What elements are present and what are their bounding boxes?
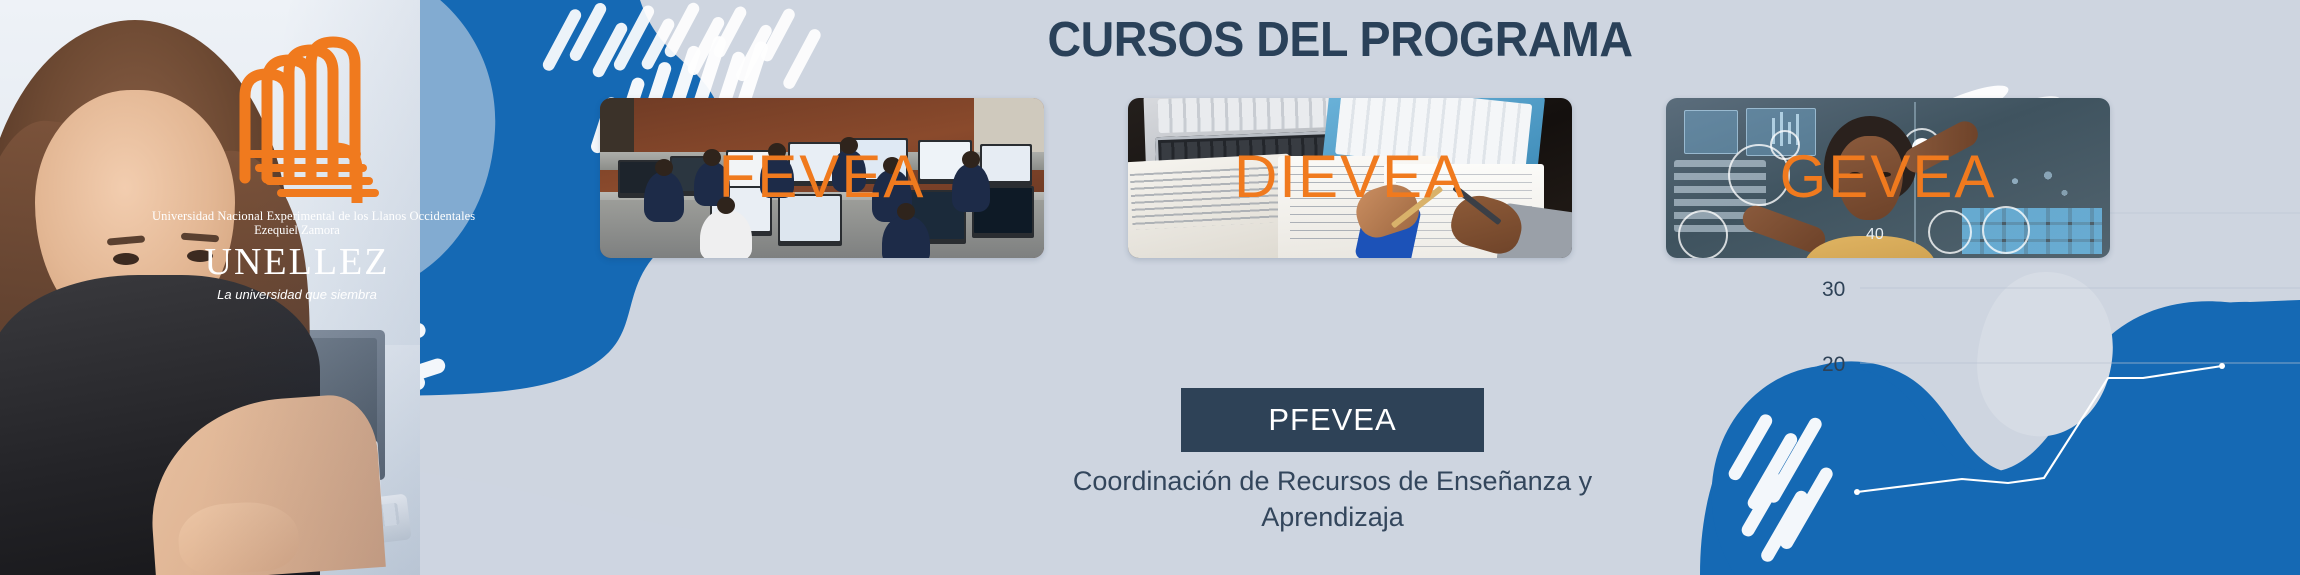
- page-title: CURSOS DEL PROGRAMA: [1008, 12, 1673, 68]
- course-label-dievea: DIEVEA: [1128, 147, 1572, 207]
- unellez-logo-block: Universidad Nacional Experimental de los…: [152, 20, 442, 340]
- logo-slogan: La universidad que siembra: [152, 286, 442, 304]
- logo-line-2: Ezequiel Zamora: [152, 223, 442, 238]
- chart-point-start: [1854, 489, 1860, 495]
- chart-axis-label-30: 30: [1822, 278, 1845, 302]
- logo-acronym: UNELLEZ: [152, 240, 442, 284]
- course-card-gevea[interactable]: 40 GEVEA: [1666, 98, 2110, 258]
- unellez-program-banner: Universidad Nacional Experimental de los…: [0, 0, 2300, 575]
- pfevea-button[interactable]: PFEVEA: [1181, 388, 1484, 452]
- course-label-gevea: GEVEA: [1666, 147, 2110, 207]
- pfevea-button-label: PFEVEA: [1268, 402, 1396, 438]
- course-card-fevea[interactable]: FEVEA: [600, 98, 1044, 258]
- chart-axis-label-20: 20: [1822, 353, 1845, 377]
- pfevea-caption: Coordinación de Recursos de Enseñanza y …: [1000, 463, 1665, 535]
- unellez-sheaf-logo-icon: [207, 28, 387, 203]
- logo-line-1: Universidad Nacional Experimental de los…: [152, 209, 442, 223]
- course-card-dievea[interactable]: DIEVEA: [1128, 98, 1572, 258]
- course-label-fevea: FEVEA: [600, 147, 1044, 207]
- hud-value-40: 40: [1866, 226, 1884, 244]
